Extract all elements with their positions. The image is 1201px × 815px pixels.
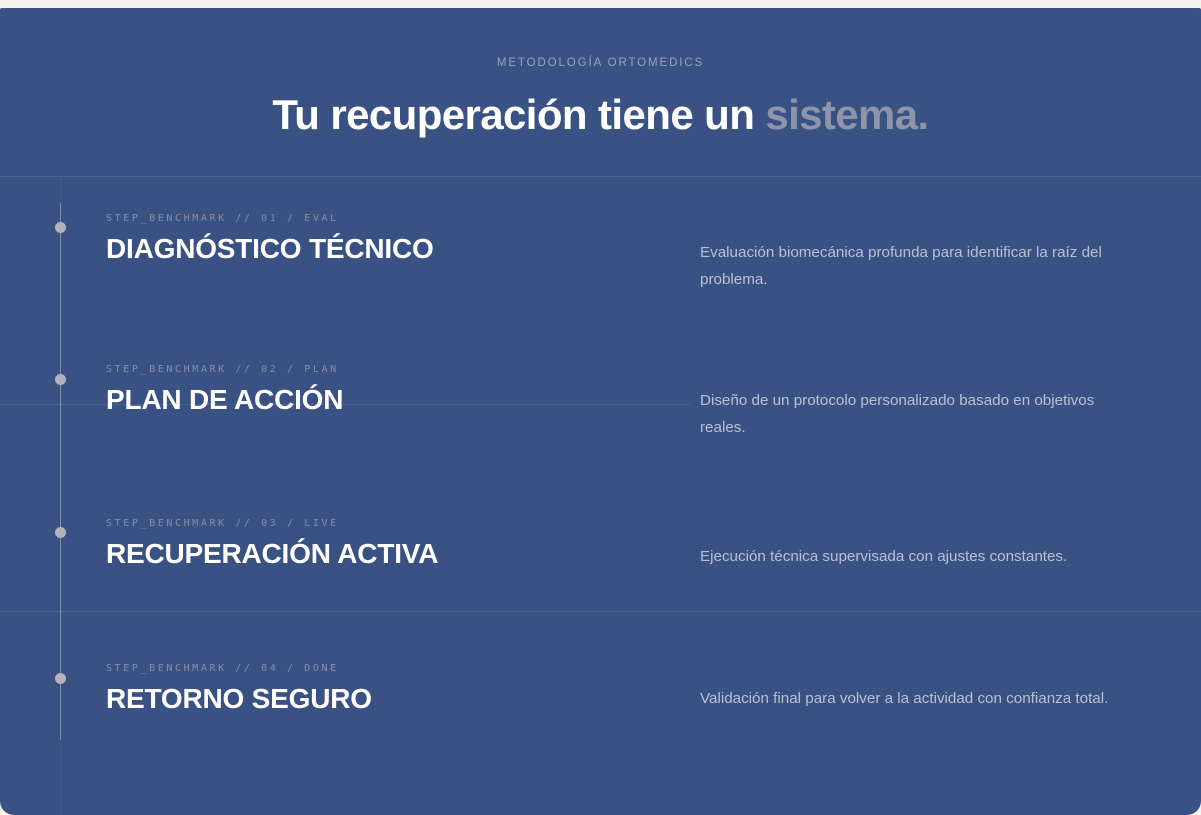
list-item[interactable]: STEP_BENCHMARK // 04 / DONE RETORNO SEGU…: [0, 628, 1201, 778]
methodology-section: METODOLOGÍA ORTOMEDICS Tu recuperación t…: [0, 8, 1201, 815]
step-heading-group: STEP_BENCHMARK // 04 / DONE RETORNO SEGU…: [106, 663, 372, 715]
list-item[interactable]: STEP_BENCHMARK // 03 / LIVE RECUPERACIÓN…: [0, 482, 1201, 628]
list-item[interactable]: STEP_BENCHMARK // 01 / EVAL DIAGNÓSTICO …: [0, 176, 1201, 329]
section-eyebrow: METODOLOGÍA ORTOMEDICS: [0, 57, 1201, 69]
step-code-label: STEP_BENCHMARK // 01 / EVAL: [106, 213, 434, 224]
step-code-label: STEP_BENCHMARK // 03 / LIVE: [106, 518, 438, 529]
timeline-dot-icon: [55, 374, 66, 385]
step-heading-group: STEP_BENCHMARK // 03 / LIVE RECUPERACIÓN…: [106, 518, 438, 570]
step-description: Diseño de un protocolo personalizado bas…: [700, 387, 1120, 441]
methodology-steps-list: STEP_BENCHMARK // 01 / EVAL DIAGNÓSTICO …: [0, 176, 1201, 778]
timeline-dot-icon: [55, 673, 66, 684]
page-title: Tu recuperación tiene un sistema.: [0, 90, 1201, 140]
step-title: PLAN DE ACCIÓN: [106, 384, 343, 416]
step-title: RETORNO SEGURO: [106, 683, 372, 715]
list-item[interactable]: STEP_BENCHMARK // 02 / PLAN PLAN DE ACCI…: [0, 329, 1201, 482]
headline-main-text: Tu recuperación tiene un: [272, 91, 765, 138]
step-code-label: STEP_BENCHMARK // 02 / PLAN: [106, 364, 343, 375]
page-root: METODOLOGÍA ORTOMEDICS Tu recuperación t…: [0, 0, 1201, 815]
timeline-dot-icon: [55, 527, 66, 538]
step-heading-group: STEP_BENCHMARK // 01 / EVAL DIAGNÓSTICO …: [106, 213, 434, 265]
step-description: Ejecución técnica supervisada con ajuste…: [700, 543, 1120, 570]
step-title: RECUPERACIÓN ACTIVA: [106, 538, 438, 570]
hero-header: METODOLOGÍA ORTOMEDICS Tu recuperación t…: [0, 8, 1201, 176]
step-title: DIAGNÓSTICO TÉCNICO: [106, 233, 434, 265]
step-description: Validación final para volver a la activi…: [700, 685, 1120, 712]
timeline-dot-icon: [55, 222, 66, 233]
step-description: Evaluación biomecánica profunda para ide…: [700, 239, 1120, 293]
step-code-label: STEP_BENCHMARK // 04 / DONE: [106, 663, 372, 674]
headline-accent-text: sistema.: [765, 91, 928, 138]
step-heading-group: STEP_BENCHMARK // 02 / PLAN PLAN DE ACCI…: [106, 364, 343, 416]
